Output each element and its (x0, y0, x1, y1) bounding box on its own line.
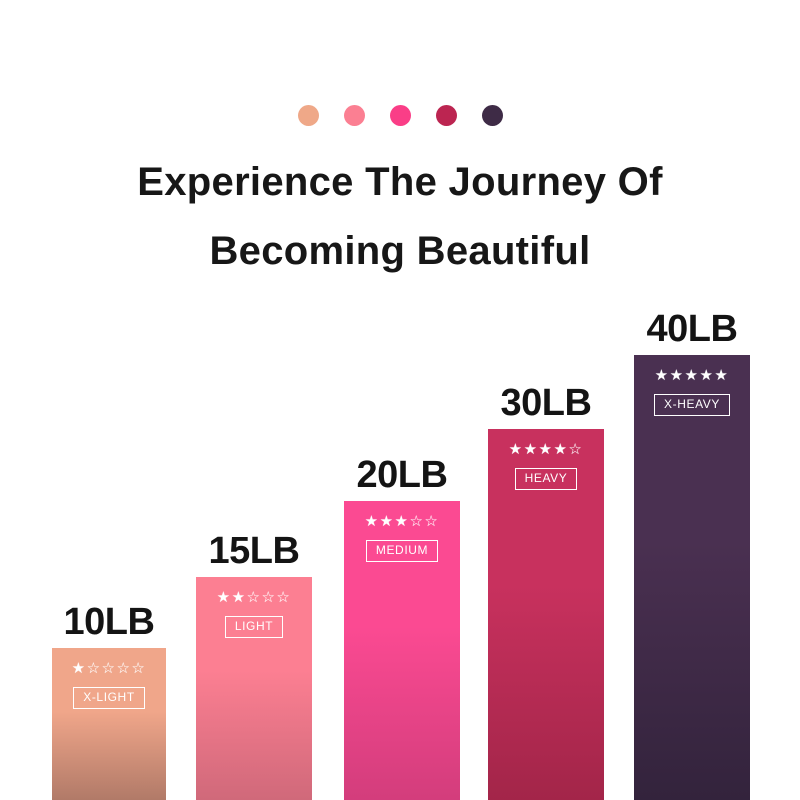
bar-weight-label: 30LB (501, 382, 592, 425)
bar-x-heavy[interactable]: 40LB★★★★★X-HEAVY (634, 355, 750, 800)
bar-medium[interactable]: 20LB★★★☆☆MEDIUM (344, 501, 460, 800)
level-badge: LIGHT (225, 616, 283, 638)
bar-rating-block: ★★★☆☆MEDIUM (344, 513, 460, 562)
bar-light[interactable]: 15LB★★☆☆☆LIGHT (196, 577, 312, 800)
bar-rating-block: ★★☆☆☆LIGHT (196, 589, 312, 638)
bar-rating-block: ★★★★★X-HEAVY (634, 367, 750, 416)
bar-rating-block: ★☆☆☆☆X-LIGHT (52, 660, 166, 709)
resistance-bar-chart: 10LB★☆☆☆☆X-LIGHT15LB★★☆☆☆LIGHT20LB★★★☆☆M… (0, 0, 800, 800)
star-rating-icon: ★★★★☆ (509, 441, 584, 459)
bar-weight-label: 40LB (647, 308, 738, 351)
bar-rating-block: ★★★★☆HEAVY (488, 441, 604, 490)
level-badge: MEDIUM (366, 540, 438, 562)
bar-heavy[interactable]: 30LB★★★★☆HEAVY (488, 429, 604, 800)
bar-x-light[interactable]: 10LB★☆☆☆☆X-LIGHT (52, 648, 166, 800)
bar-fill (634, 355, 750, 800)
level-badge: X-LIGHT (73, 687, 145, 709)
star-rating-icon: ★★★☆☆ (365, 513, 440, 531)
bar-weight-label: 10LB (64, 601, 155, 644)
star-rating-icon: ★☆☆☆☆ (72, 660, 147, 678)
level-badge: X-HEAVY (654, 394, 730, 416)
star-rating-icon: ★★★★★ (655, 367, 730, 385)
level-badge: HEAVY (515, 468, 578, 490)
star-rating-icon: ★★☆☆☆ (217, 589, 292, 607)
bar-weight-label: 20LB (357, 454, 448, 497)
bar-weight-label: 15LB (209, 530, 300, 573)
